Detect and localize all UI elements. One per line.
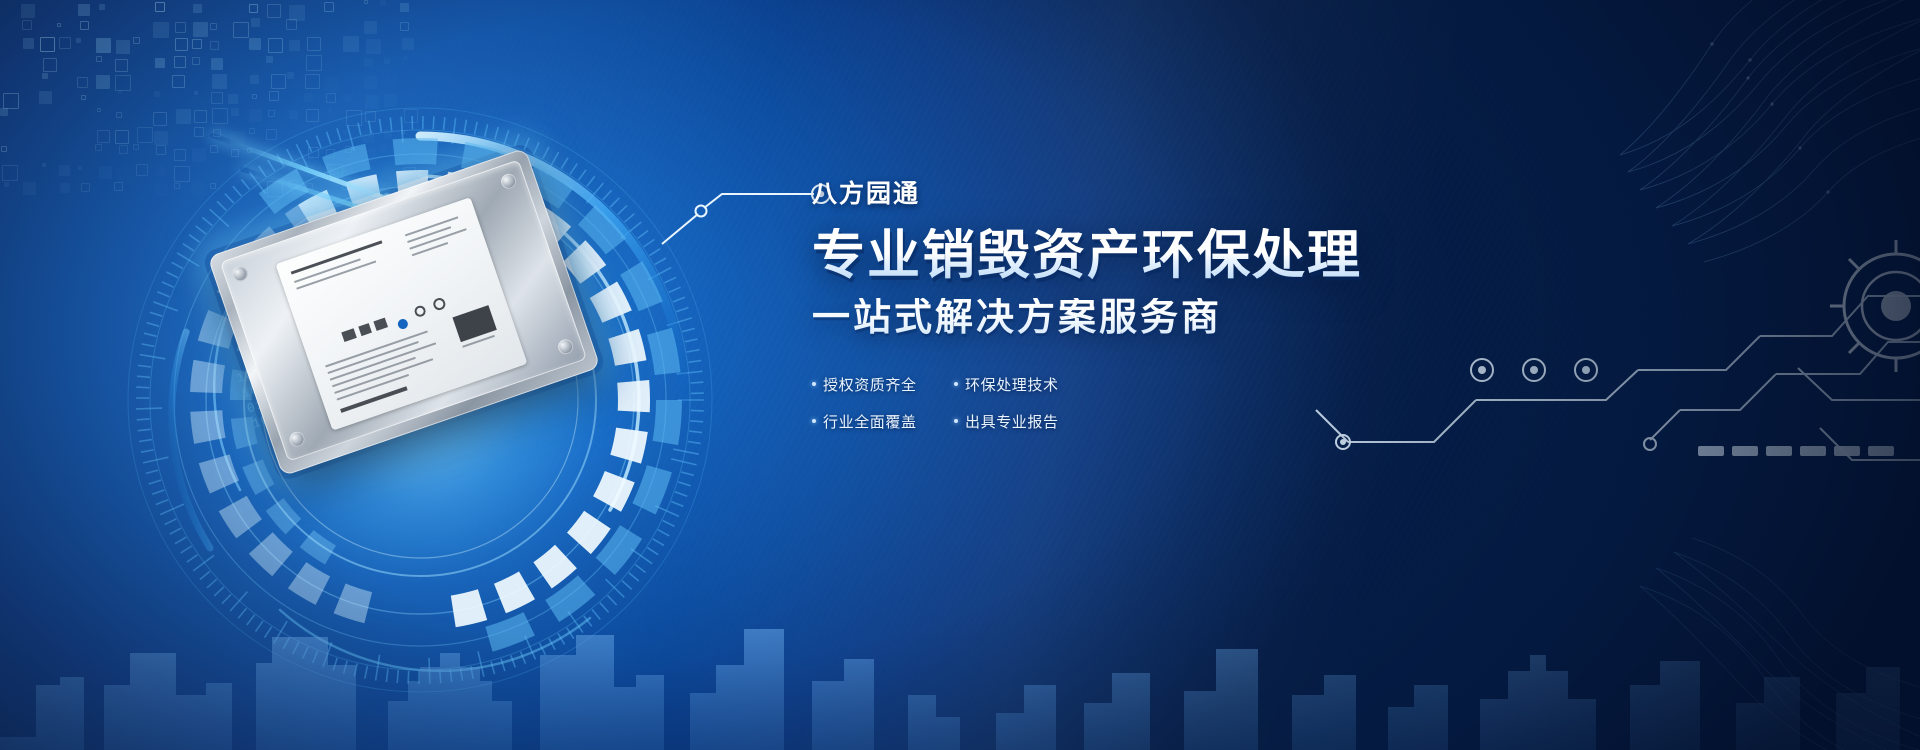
feature-label: 出具专业报告 xyxy=(965,411,1059,432)
feature-label: 授权资质齐全 xyxy=(823,374,917,395)
hard-drive-label xyxy=(275,197,527,430)
hero-banner: 1001 0110 1001 100 1011 0011 1001 011 01… xyxy=(0,0,1920,750)
feature-item: 环保处理技术 xyxy=(954,374,1082,395)
feature-list: 授权资质齐全环保处理技术行业全面覆盖出具专业报告 xyxy=(812,374,1532,432)
gear-connector-icon xyxy=(1826,236,1920,376)
bullet-icon xyxy=(812,419,816,423)
feature-label: 环保处理技术 xyxy=(965,374,1059,395)
bullet-icon xyxy=(812,382,816,386)
pixel-mosaic-icon xyxy=(0,0,420,200)
feature-item: 授权资质齐全 xyxy=(812,374,940,395)
hard-drive-icon xyxy=(207,148,600,477)
feature-item: 出具专业报告 xyxy=(954,411,1082,432)
feature-item: 行业全面覆盖 xyxy=(812,411,940,432)
bullet-icon xyxy=(954,419,958,423)
page-title: 专业销毁资产环保处理 xyxy=(812,228,1532,284)
brand-name: 八方园通 xyxy=(812,182,1532,207)
feature-label: 行业全面覆盖 xyxy=(823,411,917,432)
hero-copy: 八方园通 专业销毁资产环保处理 一站式解决方案服务商 授权资质齐全环保处理技术行… xyxy=(812,182,1532,432)
wire-mesh-bottom-icon xyxy=(1390,490,1920,750)
light-beam-icon xyxy=(209,132,389,202)
bullet-icon xyxy=(954,382,958,386)
page-subtitle: 一站式解决方案服务商 xyxy=(812,298,1532,340)
city-skyline-icon xyxy=(0,535,1920,750)
